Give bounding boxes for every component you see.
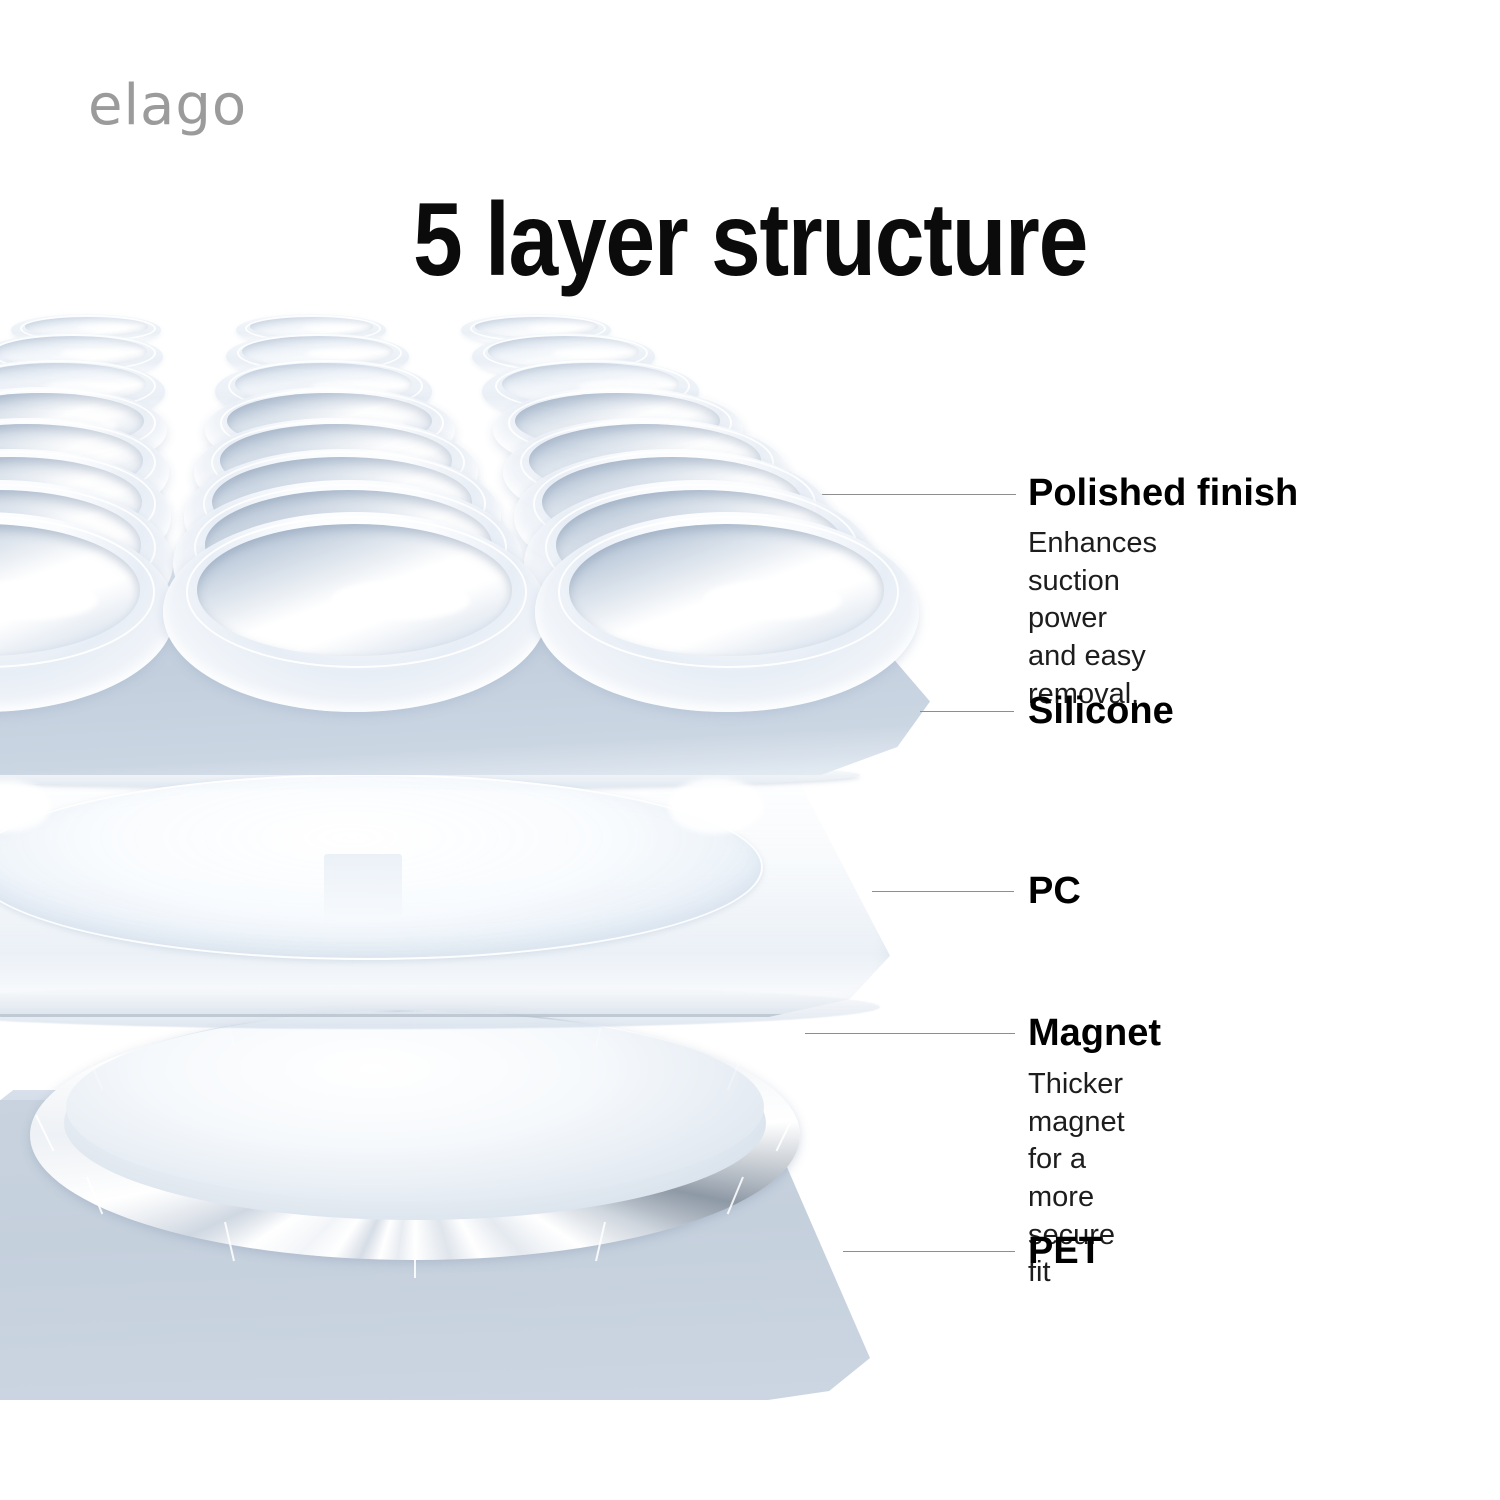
callout-title-polished-finish: Polished finish [1028, 474, 1298, 512]
callout-title-pet: PET [1028, 1232, 1102, 1270]
callout-title-silicone: Silicone [1028, 692, 1174, 730]
suction-cup [163, 512, 547, 712]
suction-cup-highlight [306, 349, 372, 358]
pc-highlight-right [668, 778, 764, 834]
magnet-ring-cap [66, 1012, 764, 1202]
suction-cup [535, 512, 919, 712]
pc-layer [0, 762, 890, 1017]
leader-line-magnet [805, 1033, 1015, 1034]
callout-desc-polished-finish: Enhances suction power and easy removal. [1028, 525, 1157, 713]
leader-line-pet [843, 1251, 1015, 1252]
infographic-canvas: elago 5 layer structure [0, 0, 1500, 1500]
product-exploded-view [0, 0, 1010, 1500]
callout-title-magnet: Magnet [1028, 1014, 1161, 1052]
suction-cup-highlight [60, 349, 126, 358]
suction-cup-highlight [552, 349, 618, 358]
suction-cup-highlight [703, 580, 841, 620]
callout-title-pc: PC [1028, 872, 1081, 910]
leader-line-polished-finish [820, 494, 1016, 495]
pc-center-tab [324, 854, 402, 920]
suction-cup-highlight [331, 580, 469, 620]
leader-line-silicone [920, 711, 1014, 712]
leader-line-pc [872, 891, 1014, 892]
magnet-ring-layer [30, 1010, 800, 1260]
magnet-segment-divider [414, 1238, 416, 1278]
